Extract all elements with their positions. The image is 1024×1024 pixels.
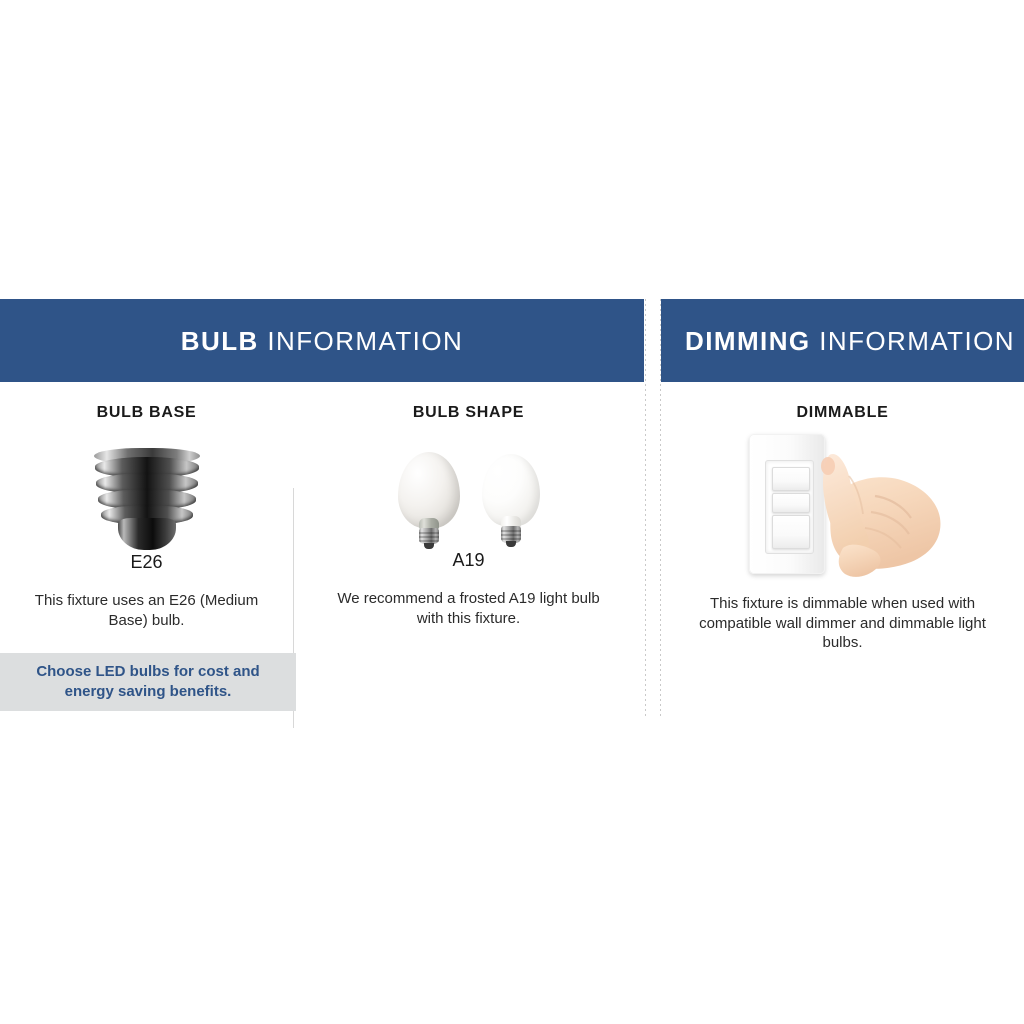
incandescent-a19-bulb-icon: [398, 452, 460, 550]
led-tip-text: Choose LED bulbs for cost and energy sav…: [23, 662, 273, 702]
bulb-information-panel: BULB INFORMATION BULB BASE E26 This fixt…: [0, 299, 644, 630]
led-a19-bulb-icon: [482, 454, 540, 550]
dimmable-title: DIMMABLE: [661, 404, 1024, 422]
bulb-shape-title: BULB SHAPE: [293, 404, 644, 422]
bulb-base-title: BULB BASE: [0, 404, 293, 422]
bulb-base-caption: E26: [0, 552, 293, 573]
bulb-base-description: This fixture uses an E26 (Medium Base) b…: [27, 591, 267, 630]
dimmable-artwork: [661, 428, 1024, 578]
bulb-columns: BULB BASE E26 This fixture uses an E26 (…: [0, 382, 644, 630]
dimming-header-light-word-text: INFORMATION: [819, 326, 1015, 356]
bulb-header-bold-word: BULB: [181, 326, 259, 356]
dimming-header-bold-word: DIMMING: [685, 326, 811, 356]
dimming-header-space: [811, 326, 820, 356]
dimmable-description: This fixture is dimmable when used with …: [693, 594, 993, 653]
bulb-shape-description: We recommend a frosted A19 light bulb wi…: [329, 589, 609, 628]
dimming-columns: DIMMABLE: [661, 382, 1024, 653]
bulb-information-header-text: BULB INFORMATION: [181, 328, 463, 354]
hand-icon: [797, 452, 943, 578]
bulb-shape-artwork: [293, 432, 644, 550]
dimming-information-header: DIMMING INFORMATION: [661, 299, 1024, 382]
bulb-shape-caption: A19: [293, 550, 644, 571]
bulb-header-light-word-text: INFORMATION: [267, 326, 463, 356]
wall-dimmer-switch-icon: [743, 430, 943, 578]
e26-screw-base-icon: [91, 448, 203, 552]
bulb-information-header: BULB INFORMATION: [0, 299, 644, 382]
dimmable-column: DIMMABLE: [661, 382, 1024, 653]
led-tip-box: Choose LED bulbs for cost and energy sav…: [0, 653, 296, 711]
dimming-information-panel: DIMMING INFORMATION DIMMABLE: [661, 299, 1024, 653]
bulb-base-artwork: [0, 434, 293, 552]
dimming-information-header-text: DIMMING INFORMATION: [685, 328, 1015, 354]
bulb-shape-column: BULB SHAPE: [293, 382, 644, 630]
bulb-base-column: BULB BASE E26 This fixture uses an E26 (…: [0, 382, 293, 630]
dotted-separator-left: [645, 299, 646, 719]
